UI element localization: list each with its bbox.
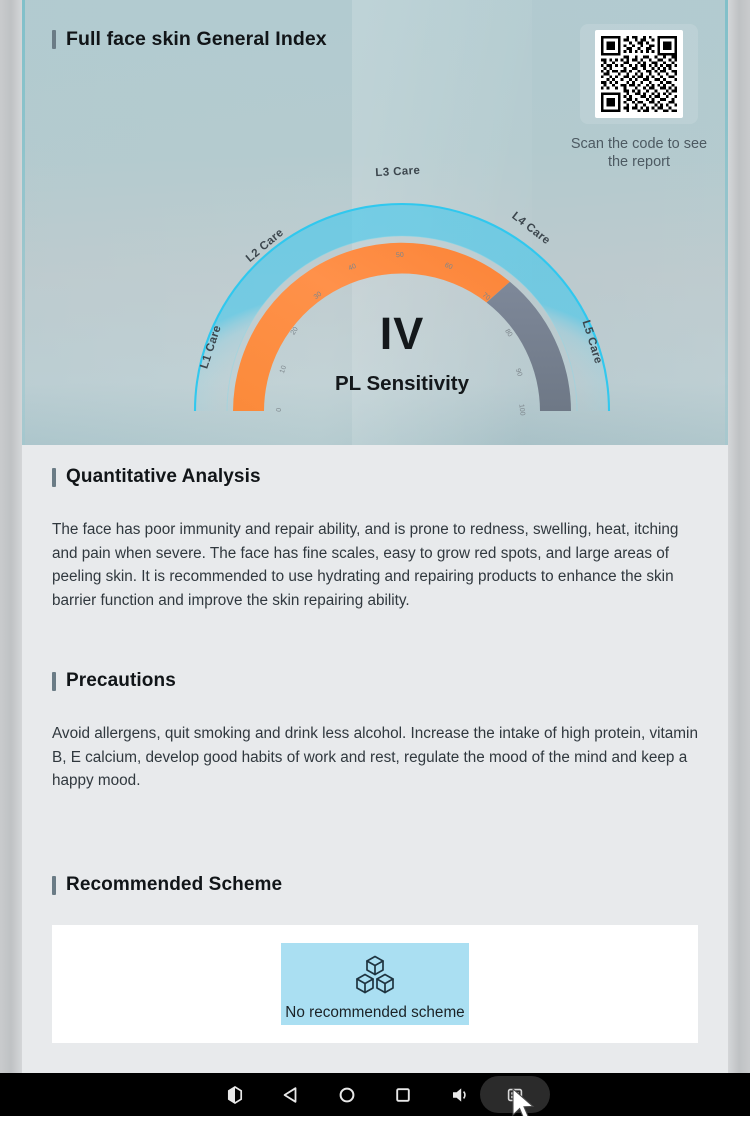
section-title-text: Precautions	[66, 670, 176, 692]
gauge-tick-0: 0	[276, 407, 283, 412]
page-title: Full face skin General Index	[52, 28, 327, 51]
qr-code-icon[interactable]	[595, 30, 683, 118]
quantitative-analysis-body: The face has poor immunity and repair ab…	[52, 518, 692, 612]
bezel-right	[728, 0, 750, 1073]
volume-down-button[interactable]	[207, 1073, 263, 1116]
cubes-icon	[351, 951, 399, 999]
general-index-gauge: L1 Care L2 Care L3 Care L4 Care L5 Care …	[157, 133, 647, 423]
empty-state-text: No recommended scheme	[285, 1004, 464, 1022]
gauge-level-value: IV	[157, 311, 647, 356]
recents-icon	[393, 1085, 413, 1105]
device-screen: Full face skin General Index	[0, 0, 750, 1145]
gauge-metric-label: PL Sensitivity	[157, 372, 647, 396]
below-navbar-area	[0, 1116, 750, 1145]
empty-state: No recommended scheme	[281, 943, 469, 1025]
gauge-tick-50: 50	[396, 252, 404, 260]
page-title-text: Full face skin General Index	[66, 28, 327, 51]
hero-edge-right	[725, 0, 728, 445]
back-icon	[281, 1085, 301, 1105]
section-heading-precautions: Precautions	[52, 670, 176, 692]
gauge-center-readout: IV PL Sensitivity	[157, 311, 647, 396]
qr-plate	[580, 24, 698, 124]
section-heading-quantitative-analysis: Quantitative Analysis	[52, 466, 261, 488]
precautions-body: Avoid allergens, quit smoking and drink …	[52, 722, 702, 793]
gauge-tick-100: 100	[517, 404, 525, 416]
volume-up-button[interactable]	[431, 1073, 487, 1116]
back-button[interactable]	[263, 1073, 319, 1116]
title-accent-bar	[52, 30, 56, 49]
volume-up-icon	[449, 1085, 469, 1105]
report-scroll-panel[interactable]: Full face skin General Index	[22, 0, 728, 1073]
screenshot-button[interactable]	[487, 1073, 543, 1116]
android-navbar	[0, 1073, 750, 1116]
section-accent-bar	[52, 468, 56, 487]
section-heading-recommended-scheme: Recommended Scheme	[52, 874, 282, 896]
section-accent-bar	[52, 672, 56, 691]
recommended-scheme-card[interactable]: No recommended scheme	[52, 925, 698, 1043]
home-icon	[337, 1085, 357, 1105]
volume-down-icon	[225, 1085, 245, 1105]
section-title-text: Recommended Scheme	[66, 874, 282, 896]
home-button[interactable]	[319, 1073, 375, 1116]
section-title-text: Quantitative Analysis	[66, 466, 261, 488]
recents-button[interactable]	[375, 1073, 431, 1116]
hero-edge-left	[22, 0, 25, 445]
bezel-left	[0, 0, 22, 1073]
care-label-l3: L3 Care	[375, 165, 421, 179]
section-accent-bar	[52, 876, 56, 895]
screenshot-icon	[505, 1085, 525, 1105]
